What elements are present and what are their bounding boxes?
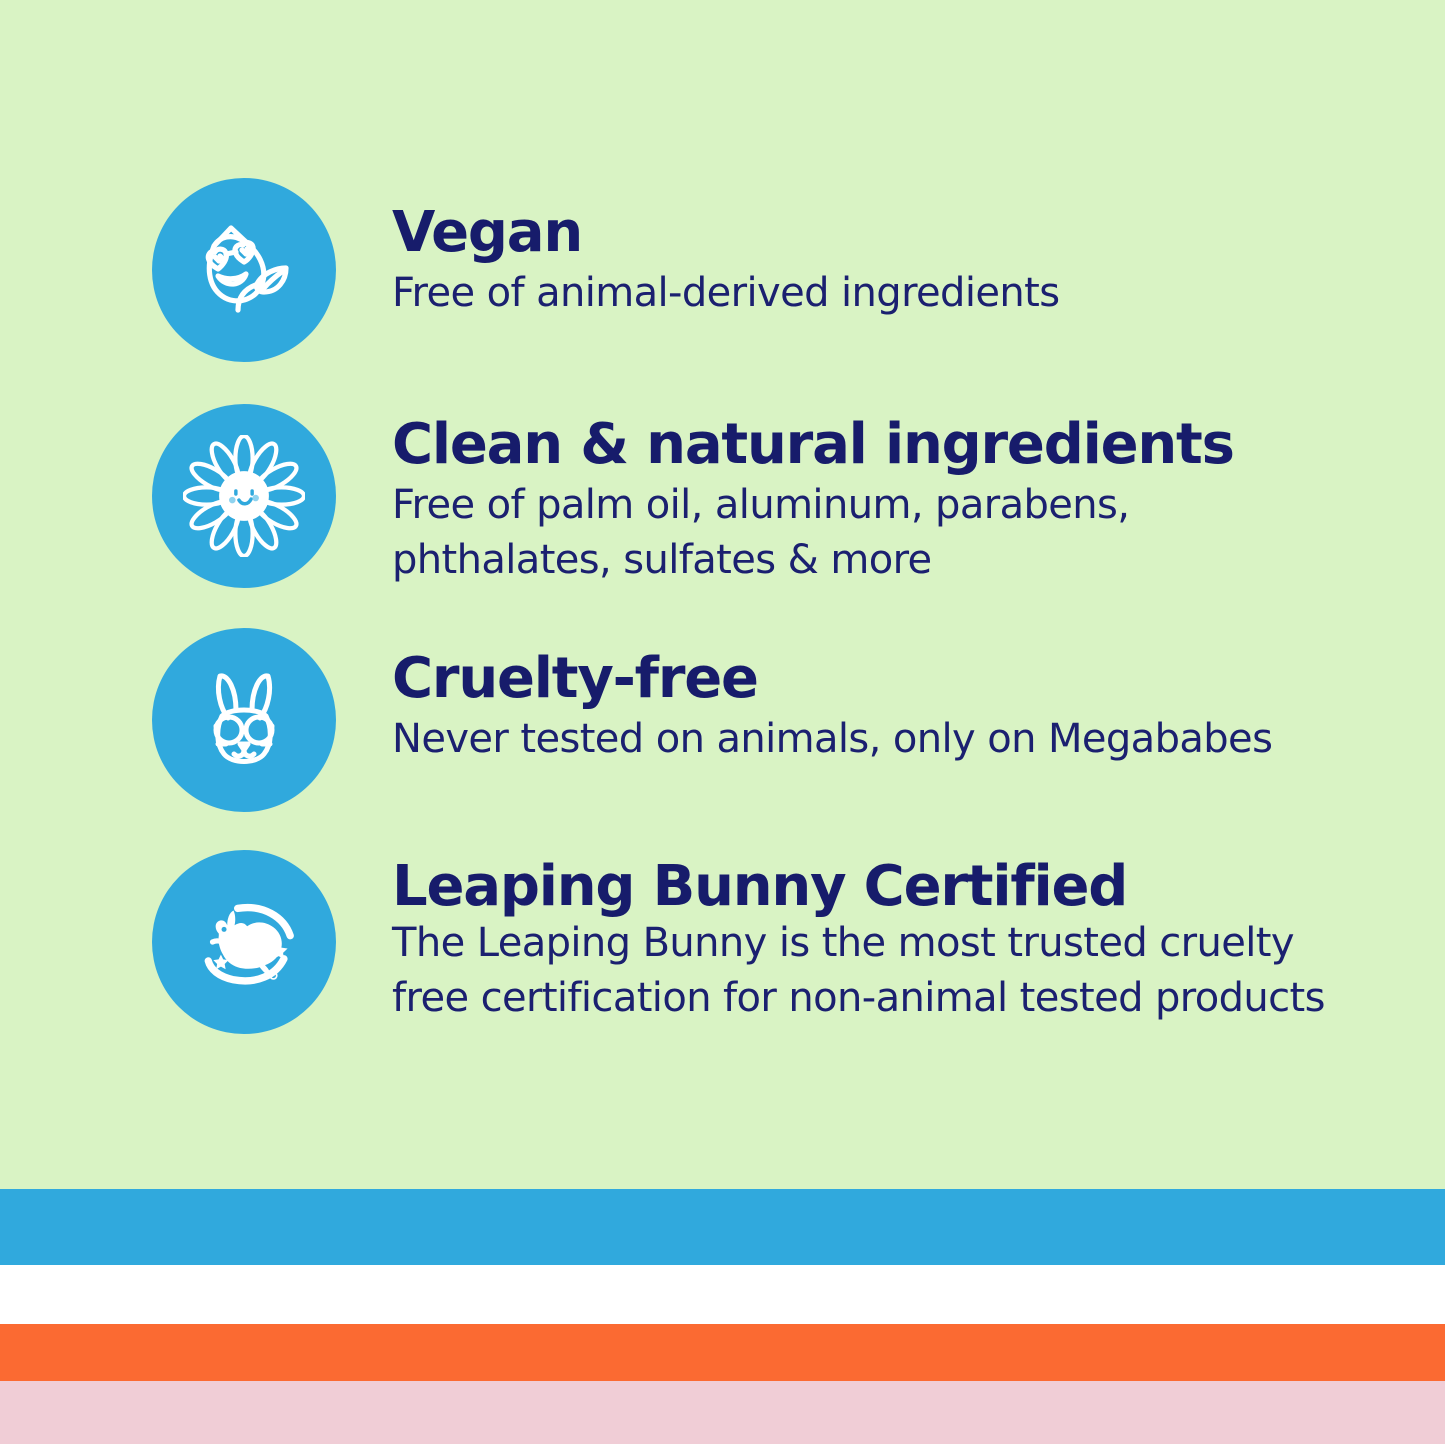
feature-row-vegan: Vegan Free of animal-derived ingredients bbox=[152, 178, 1059, 362]
feature-text-cruelty-free: Cruelty-free Never tested on animals, on… bbox=[392, 628, 1272, 767]
daisy-flower-face-icon bbox=[152, 404, 336, 588]
feature-description: The Leaping Bunny is the most trusted cr… bbox=[392, 916, 1342, 1026]
feature-title: Vegan bbox=[392, 204, 1059, 262]
feature-description: Never tested on animals, only on Megabab… bbox=[392, 712, 1272, 767]
feature-row-cruelty-free: Cruelty-free Never tested on animals, on… bbox=[152, 628, 1272, 812]
feature-row-leaping-bunny: Leaping Bunny Certified The Leaping Bunn… bbox=[152, 850, 1342, 1034]
feature-title: Clean & natural ingredients bbox=[392, 416, 1312, 474]
pink-stripe bbox=[0, 1381, 1445, 1444]
feature-text-leaping-bunny: Leaping Bunny Certified The Leaping Bunn… bbox=[392, 850, 1342, 1027]
orange-stripe bbox=[0, 1324, 1445, 1381]
bunny-sunglasses-icon bbox=[152, 628, 336, 812]
feature-title: Cruelty-free bbox=[392, 650, 1272, 708]
white-stripe bbox=[0, 1265, 1445, 1324]
feature-description: Free of animal-derived ingredients bbox=[392, 266, 1059, 321]
product-benefits-panel: Vegan Free of animal-derived ingredients bbox=[0, 0, 1445, 1444]
feature-text-clean-natural: Clean & natural ingredients Free of palm… bbox=[392, 404, 1312, 589]
blue-stripe bbox=[0, 1189, 1445, 1265]
leaping-bunny-logo-icon bbox=[152, 850, 336, 1034]
bottom-stripes bbox=[0, 1189, 1445, 1444]
feature-description: Free of palm oil, aluminum, parabens, ph… bbox=[392, 478, 1312, 588]
feature-text-vegan: Vegan Free of animal-derived ingredients bbox=[392, 178, 1059, 321]
feature-row-clean-natural: Clean & natural ingredients Free of palm… bbox=[152, 404, 1312, 589]
vegan-leaf-face-icon bbox=[152, 178, 336, 362]
feature-title: Leaping Bunny Certified bbox=[392, 858, 1342, 916]
